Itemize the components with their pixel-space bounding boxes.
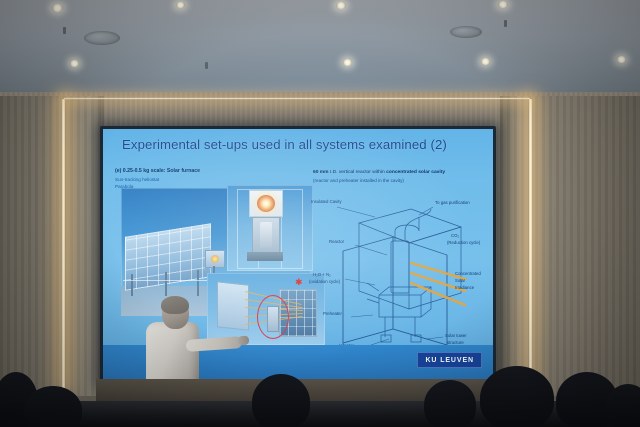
ceiling-vent [84,31,120,45]
focal-receiver-box [205,250,225,268]
label-concentrated-line3: Irradiance [455,285,474,290]
reactor-base-platform [247,252,283,261]
slide-title: Experimental set-ups used in all systems… [122,137,447,152]
label-insulated-cavity: Insulated Cavity [311,199,342,204]
ceiling-downlight [481,58,490,65]
highlight-ellipse [257,295,289,339]
ceiling-downlight [52,4,63,12]
audience-silhouette [252,374,310,427]
ku-leuven-logo: KU LEUVEN [417,352,482,368]
label-co2-line1: CO₂ [451,233,459,238]
label-concentrated-line2: Solar [455,278,465,283]
support-pole [131,274,133,296]
cove-light-ceiling-edge [64,97,530,100]
audience-silhouette [606,384,640,427]
label-co2-line2: (Reduction cycle) [447,240,480,245]
right-heading-bold2: concentrated solar cavity [386,170,445,175]
audience-silhouette [24,386,82,427]
sprinkler-head [63,27,66,34]
sprinkler-head [504,20,507,27]
audience-silhouette [480,366,554,427]
label-to-gas-purification: To gas purification [435,200,470,205]
right-wall-panel [500,96,640,396]
reactor-cavity-schematic: Insulated Cavity To gas purification Rea… [315,187,491,359]
cove-light-right [528,99,533,389]
label-h2o-line1: H₂O + N₂ [313,272,331,277]
sun-icon: ✱ [295,279,302,286]
support-pole [197,270,199,296]
right-heading-bold: 60 mm [313,170,329,175]
ceiling-downlight [498,1,508,8]
right-subheading: (reactor and preheater installed in the … [313,178,404,183]
ceiling [0,0,640,96]
solar-flare-glow [257,195,275,212]
caption-heliostat: Sun-tracking heliostat [115,177,159,182]
lecture-hall-scene: Experimental set-ups used in all systems… [0,0,640,427]
presenter-hand [238,336,250,346]
label-concentrated-line1: Concentrated [455,271,481,276]
ceiling-vent [450,26,482,38]
label-solar-tower-line1: Solar tower [445,333,467,338]
right-heading-rest: I.D. vertical reactor within [329,170,387,175]
label-h2o-line2: (oxidation cycle) [309,279,340,284]
right-heading: 60 mm I.D. vertical reactor within conce… [313,170,445,175]
cove-light-left [61,99,66,389]
sprinkler-head [205,62,208,69]
left-wall-panel [0,96,104,396]
ceiling-downlight [336,2,346,9]
left-subtitle: (e) 0.25-0.5 kg scale: Solar furnace [115,168,200,174]
presenter-hair [161,296,189,314]
support-pole [165,272,167,296]
presenter-arm [186,336,243,352]
label-reactor: Reactor [329,239,344,244]
ceiling-downlight [70,60,79,67]
photo-solar-furnace-focus [227,185,313,271]
audience-silhouette [424,380,476,427]
ceiling-downlight [343,59,352,66]
focal-plate [249,190,283,217]
label-preheater: Preheater [323,311,342,316]
reactor-rig [252,217,280,253]
ceiling-downlight [617,56,626,63]
ceiling-downlight [176,2,185,8]
